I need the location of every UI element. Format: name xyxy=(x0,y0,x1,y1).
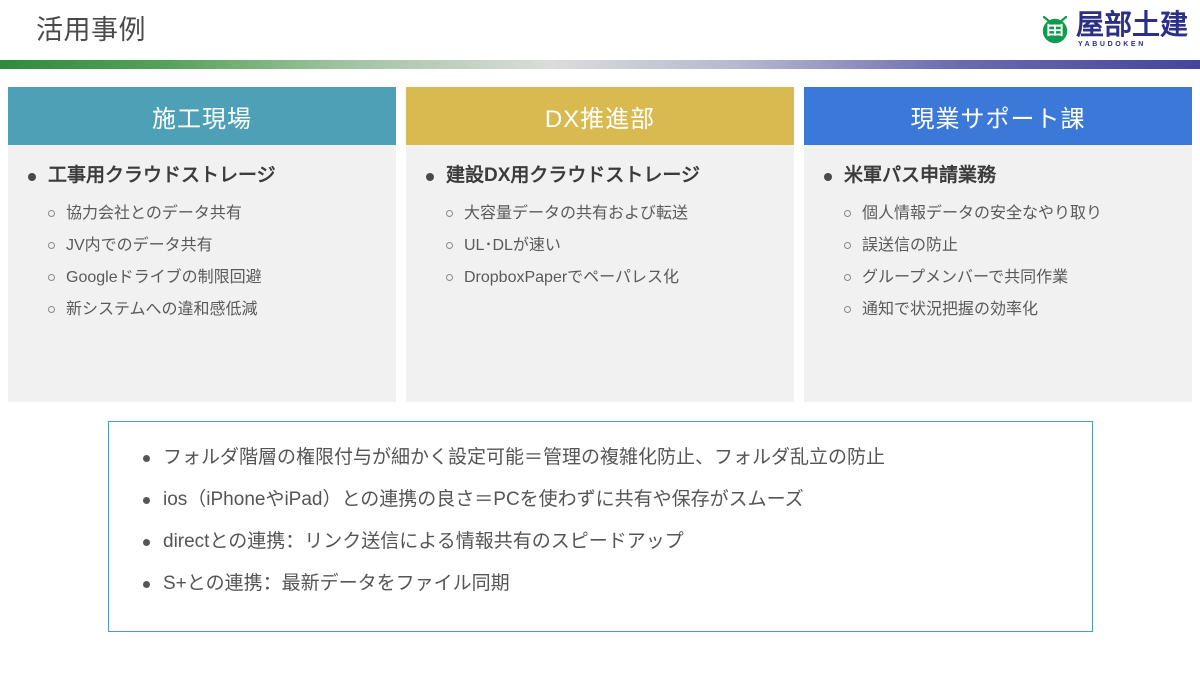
bullet-ring-icon xyxy=(48,274,55,281)
yabudoken-emblem-icon xyxy=(1039,13,1071,45)
list-item: 通知で状況把握の効率化 xyxy=(818,297,1178,322)
summary-list-item: ios（iPhoneやiPad）との連携の良さ＝PCを使わずに共有や保存がスムー… xyxy=(135,486,1066,514)
list-item-label: グループメンバーで共同作業 xyxy=(862,265,1068,290)
summary-list-item: フォルダ階層の権限付与が細かく設定可能＝管理の複雑化防止、フォルダ乱立の防止 xyxy=(135,444,1066,472)
bullet-ring-icon xyxy=(48,242,55,249)
logo-text: 屋部土建 YABUDOKEN xyxy=(1076,10,1188,49)
bullet-dot-icon xyxy=(824,173,832,181)
list-item-label: JV内でのデータ共有 xyxy=(66,233,213,258)
list-item-label: Googleドライブの制限回避 xyxy=(66,265,262,290)
bullet-ring-icon xyxy=(844,242,851,249)
list-item: DropboxPaperでペーパレス化 xyxy=(420,265,780,290)
list-item: Googleドライブの制限回避 xyxy=(22,265,382,290)
list-item-label: 大容量データの共有および転送 xyxy=(464,201,688,226)
main-bullet: 工事用クラウドストレージ xyxy=(22,163,382,189)
list-item: グループメンバーで共同作業 xyxy=(818,265,1178,290)
list-item-label: DropboxPaperでペーパレス化 xyxy=(464,265,679,290)
bullet-dot-icon xyxy=(143,455,150,462)
column-header-field-support: 現業サポート課 xyxy=(804,87,1192,145)
list-item: 協力会社とのデータ共有 xyxy=(22,201,382,226)
bullet-ring-icon xyxy=(446,242,453,249)
logo-company-name: 屋部土建 xyxy=(1076,10,1188,40)
main-bullet: 米軍パス申請業務 xyxy=(818,163,1178,189)
bullet-ring-icon xyxy=(844,210,851,217)
column-body-construction-site: 工事用クラウドストレージ 協力会社とのデータ共有 JV内でのデータ共有 Goog… xyxy=(8,145,396,402)
column-construction-site: 施工現場 工事用クラウドストレージ 協力会社とのデータ共有 JV内でのデータ共有… xyxy=(8,87,396,402)
slide-header: 活用事例 屋部土建 YABUDOKEN xyxy=(0,0,1200,58)
gradient-divider xyxy=(0,60,1200,69)
summary-list-item-label: フォルダ階層の権限付与が細かく設定可能＝管理の複雑化防止、フォルダ乱立の防止 xyxy=(163,444,885,472)
list-item-label: 通知で状況把握の効率化 xyxy=(862,297,1038,322)
column-dx-promotion: DX推進部 建設DX用クラウドストレージ 大容量データの共有および転送 UL･D… xyxy=(406,87,794,402)
list-item: 大容量データの共有および転送 xyxy=(420,201,780,226)
bullet-dot-icon xyxy=(143,581,150,588)
logo-company-romaji: YABUDOKEN xyxy=(1076,40,1146,49)
bullet-dot-icon xyxy=(28,173,36,181)
list-item: JV内でのデータ共有 xyxy=(22,233,382,258)
company-logo: 屋部土建 YABUDOKEN xyxy=(1039,6,1188,52)
column-body-field-support: 米軍パス申請業務 個人情報データの安全なやり取り 誤送信の防止 グループメンバー… xyxy=(804,145,1192,402)
main-bullet-label: 米軍パス申請業務 xyxy=(844,163,996,189)
summary-list-item: directとの連携：リンク送信による情報共有のスピードアップ xyxy=(135,528,1066,556)
bullet-ring-icon xyxy=(446,274,453,281)
summary-list-item-label: directとの連携：リンク送信による情報共有のスピードアップ xyxy=(163,528,684,556)
main-bullet-label: 建設DX用クラウドストレージ xyxy=(446,163,700,189)
column-header-construction-site: 施工現場 xyxy=(8,87,396,145)
bullet-dot-icon xyxy=(426,173,434,181)
list-item-label: 新システムへの違和感低減 xyxy=(66,297,258,322)
list-item-label: 個人情報データの安全なやり取り xyxy=(862,201,1102,226)
list-item-label: 誤送信の防止 xyxy=(862,233,958,258)
bullet-ring-icon xyxy=(446,210,453,217)
list-item: 個人情報データの安全なやり取り xyxy=(818,201,1178,226)
summary-list-item-label: ios（iPhoneやiPad）との連携の良さ＝PCを使わずに共有や保存がスムー… xyxy=(163,486,804,514)
summary-list-item-label: S+との連携：最新データをファイル同期 xyxy=(163,570,510,598)
slide-root: 活用事例 屋部土建 YABUDOKEN xyxy=(0,0,1200,675)
list-item-label: UL･DLが速い xyxy=(464,233,561,258)
bullet-ring-icon xyxy=(48,306,55,313)
bullet-ring-icon xyxy=(844,306,851,313)
page-title: 活用事例 xyxy=(36,13,146,47)
column-field-support: 現業サポート課 米軍パス申請業務 個人情報データの安全なやり取り 誤送信の防止 … xyxy=(804,87,1192,402)
summary-box: フォルダ階層の権限付与が細かく設定可能＝管理の複雑化防止、フォルダ乱立の防止 i… xyxy=(108,421,1093,632)
column-header-dx-promotion: DX推進部 xyxy=(406,87,794,145)
list-item: UL･DLが速い xyxy=(420,233,780,258)
list-item-label: 協力会社とのデータ共有 xyxy=(66,201,242,226)
summary-list-item: S+との連携：最新データをファイル同期 xyxy=(135,570,1066,598)
bullet-ring-icon xyxy=(48,210,55,217)
bullet-dot-icon xyxy=(143,539,150,546)
columns-container: 施工現場 工事用クラウドストレージ 協力会社とのデータ共有 JV内でのデータ共有… xyxy=(8,87,1192,402)
column-body-dx-promotion: 建設DX用クラウドストレージ 大容量データの共有および転送 UL･DLが速い D… xyxy=(406,145,794,402)
list-item: 新システムへの違和感低減 xyxy=(22,297,382,322)
main-bullet-label: 工事用クラウドストレージ xyxy=(48,163,276,189)
main-bullet: 建設DX用クラウドストレージ xyxy=(420,163,780,189)
bullet-dot-icon xyxy=(143,497,150,504)
bullet-ring-icon xyxy=(844,274,851,281)
list-item: 誤送信の防止 xyxy=(818,233,1178,258)
